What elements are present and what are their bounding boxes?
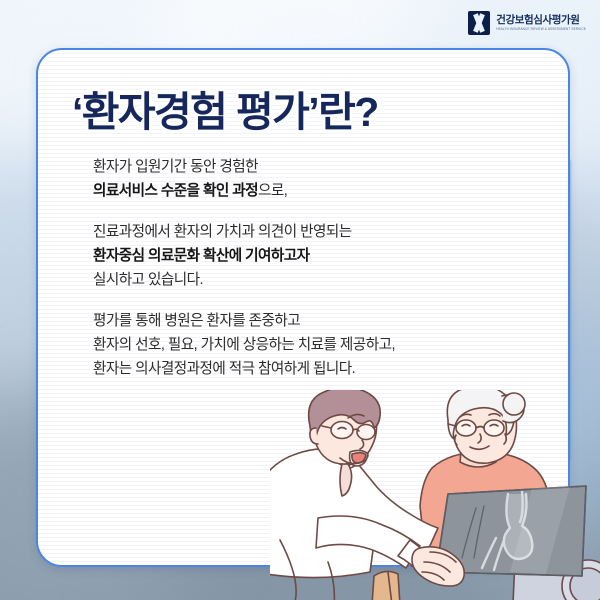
text-line: 환자중심 의료문화 확산에 기여하고자 bbox=[93, 244, 513, 268]
paragraph: 진료과정에서 환자의 가치과 의견이 반영되는 환자중심 의료문화 확산에 기여… bbox=[93, 220, 513, 292]
text-line: 실시하고 있습니다. bbox=[93, 268, 513, 292]
text-segment-regular: 으로, bbox=[258, 183, 287, 199]
text-line: 진료과정에서 환자의 가치과 의견이 반영되는 bbox=[93, 220, 513, 244]
body-text-block: 환자가 입원기간 동안 경험한 의료서비스 수준을 확인 과정으로, 진료과정에… bbox=[93, 155, 513, 381]
infographic-card-page: 건강보험심사평가원 HEALTH INSURANCE REVIEW & ASSE… bbox=[0, 0, 600, 600]
illustration-doctor-and-patient bbox=[270, 390, 600, 600]
hira-x-logo-icon bbox=[468, 11, 490, 35]
hira-logo: 건강보험심사평가원 HEALTH INSURANCE REVIEW & ASSE… bbox=[468, 11, 586, 35]
logo-text-block: 건강보험심사평가원 HEALTH INSURANCE REVIEW & ASSE… bbox=[496, 15, 586, 31]
text-line: 환자는 의사결정과정에 적극 참여하게 됩니다. bbox=[93, 357, 513, 381]
logo-name-english: HEALTH INSURANCE REVIEW & ASSESSMENT SER… bbox=[496, 28, 586, 31]
text-line: 의료서비스 수준을 확인 과정으로, bbox=[93, 179, 513, 203]
logo-name-korean: 건강보험심사평가원 bbox=[496, 15, 586, 26]
page-title: ‘환자경험 평가’란? bbox=[72, 78, 378, 138]
paragraph: 평가를 통해 병원은 환자를 존중하고 환자의 선호, 필요, 가치에 상응하는… bbox=[93, 309, 513, 381]
text-line: 환자의 선호, 필요, 가치에 상응하는 치료를 제공하고, bbox=[93, 333, 513, 357]
text-line: 평가를 통해 병원은 환자를 존중하고 bbox=[93, 309, 513, 333]
paragraph: 환자가 입원기간 동안 경험한 의료서비스 수준을 확인 과정으로, bbox=[93, 155, 513, 203]
text-line: 환자가 입원기간 동안 경험한 bbox=[93, 155, 513, 179]
text-segment-bold: 의료서비스 수준을 확인 과정 bbox=[93, 183, 258, 199]
